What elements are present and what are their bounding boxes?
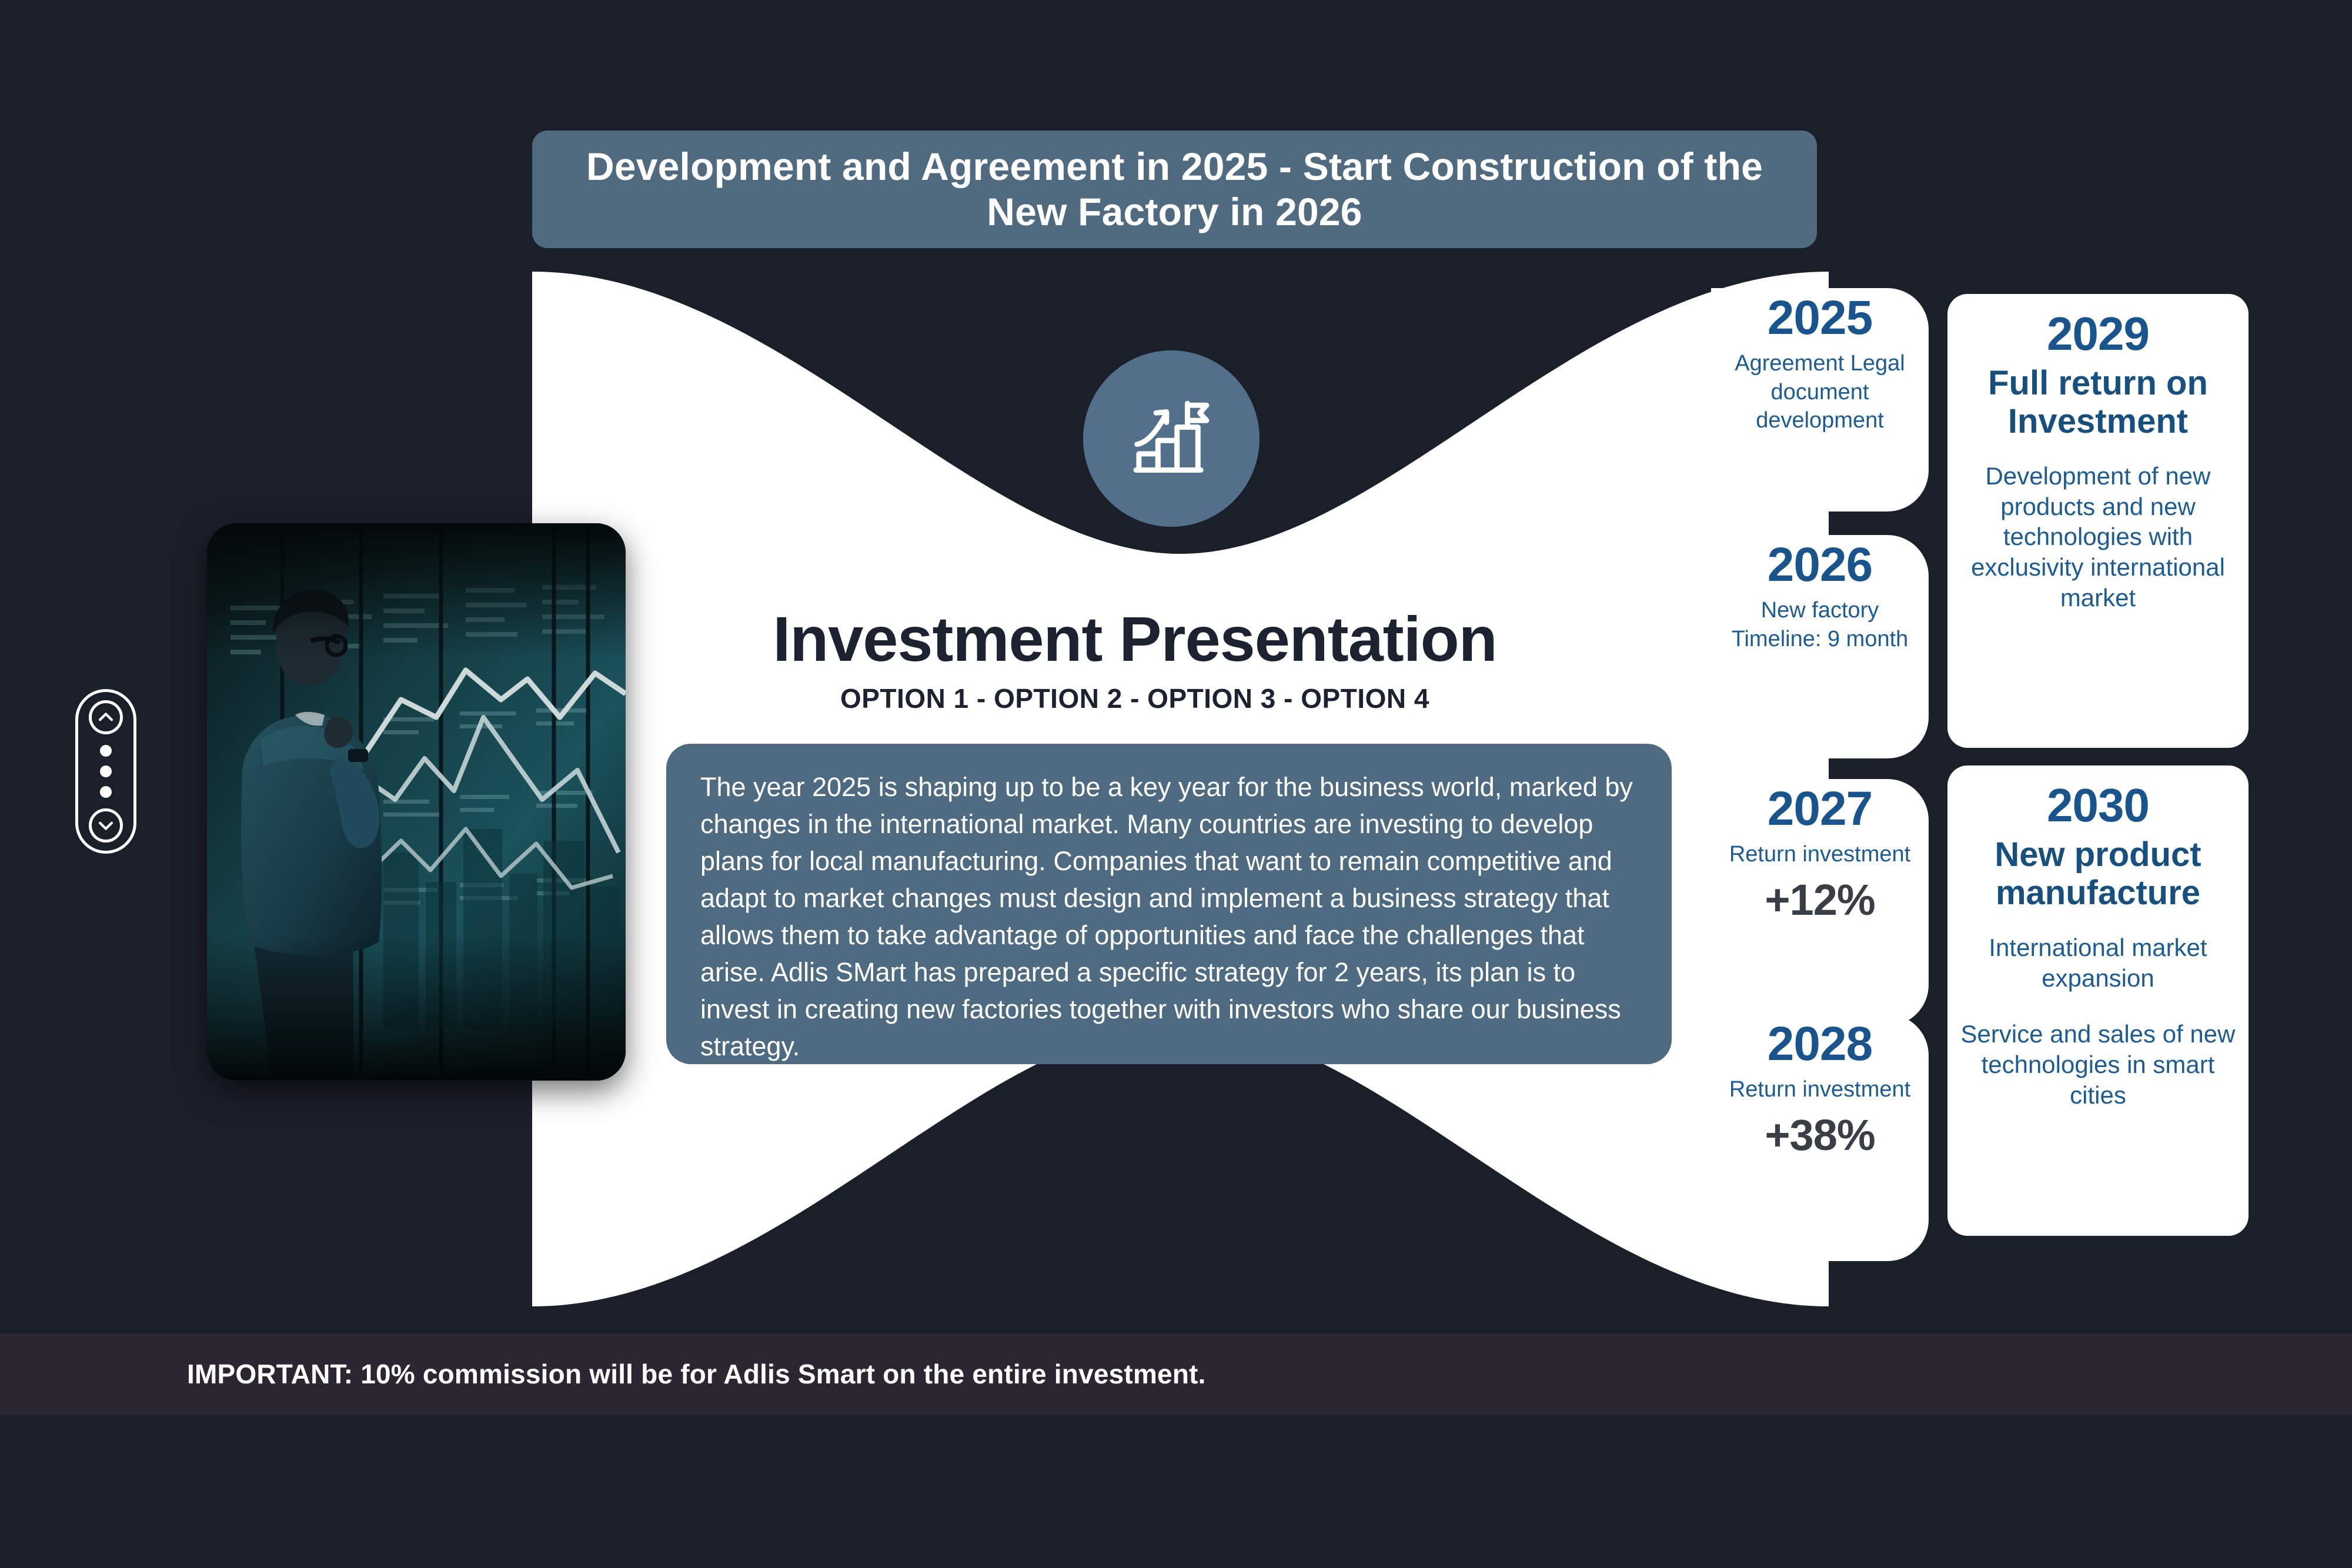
- timeline-tab-2028[interactable]: 2028 Return investment +38%: [1711, 1014, 1929, 1261]
- timeline-tab-2025[interactable]: 2025 Agreement Legal document developmen…: [1711, 288, 1929, 511]
- three-dots-icon[interactable]: [100, 745, 112, 798]
- timeline-subtitle: Return investment: [1729, 840, 1910, 869]
- nav-dot: [100, 745, 112, 757]
- description-card: The year 2025 is shaping up to be a key …: [666, 744, 1672, 1064]
- nav-dot: [100, 786, 112, 798]
- timeline-year: 2027: [1768, 785, 1872, 833]
- timeline-subtitle: Return investment: [1729, 1075, 1910, 1104]
- header-banner: Development and Agreement in 2025 - Star…: [532, 131, 1817, 248]
- timeline-percent: +38%: [1765, 1114, 1875, 1157]
- nav-dot: [100, 765, 112, 777]
- milestone-title: New product manufacture: [1960, 836, 2236, 912]
- chevron-up-icon[interactable]: [89, 700, 123, 734]
- milestone-body-secondary: Service and sales of new technologies in…: [1960, 1019, 2236, 1110]
- growth-chart-flag-icon: [1083, 350, 1259, 527]
- description-text: The year 2025 is shaping up to be a key …: [700, 768, 1638, 1065]
- milestone-body: International market expansion: [1960, 932, 2236, 993]
- timeline-year: 2026: [1768, 541, 1872, 589]
- photo-card: [207, 523, 626, 1081]
- presentation-title-block: Investment Presentation OPTION 1 - OPTIO…: [532, 606, 1738, 714]
- timeline-percent: +12%: [1765, 878, 1875, 922]
- footer-note: IMPORTANT: 10% commission will be for Ad…: [187, 1358, 1206, 1390]
- milestone-year: 2029: [2047, 309, 2149, 359]
- timeline-tab-2027[interactable]: 2027 Return investment +12%: [1711, 779, 1929, 1026]
- page-title: Investment Presentation: [532, 606, 1738, 672]
- milestone-year: 2030: [2047, 781, 2149, 830]
- timeline-year: 2025: [1768, 294, 1872, 342]
- milestone-title: Full return on Investment: [1960, 365, 2236, 441]
- slide-canvas: Development and Agreement in 2025 - Star…: [0, 0, 2352, 1568]
- header-title: Development and Agreement in 2025 - Star…: [567, 144, 1782, 235]
- chevron-down-icon[interactable]: [89, 808, 123, 842]
- business-analyst-photo: [207, 523, 626, 1081]
- timeline-subtitle: New factory Timeline: 9 month: [1720, 596, 1919, 653]
- milestone-body: Development of new products and new tech…: [1960, 461, 2236, 613]
- option-list: OPTION 1 - OPTION 2 - OPTION 3 - OPTION …: [532, 683, 1738, 714]
- timeline-year: 2028: [1768, 1020, 1872, 1068]
- timeline-tab-2026[interactable]: 2026 New factory Timeline: 9 month: [1711, 535, 1929, 758]
- timeline-subtitle: Agreement Legal document development: [1720, 349, 1919, 435]
- slide-navigation-pill[interactable]: [75, 689, 136, 854]
- milestone-card-2029[interactable]: 2029 Full return on Investment Developme…: [1947, 294, 2249, 748]
- footer-note-band: IMPORTANT: 10% commission will be for Ad…: [0, 1333, 2352, 1415]
- milestone-card-2030[interactable]: 2030 New product manufacture Internation…: [1947, 765, 2249, 1236]
